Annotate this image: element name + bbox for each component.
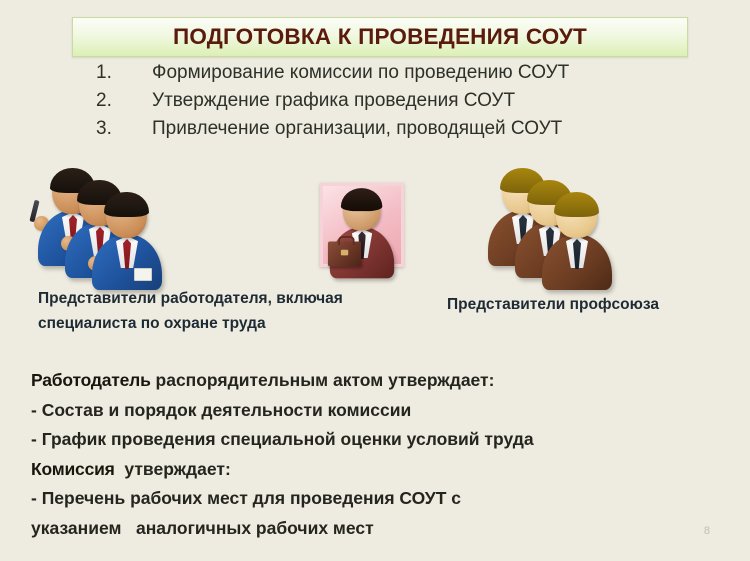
body-line: указанием аналогичных рабочих мест [31, 514, 731, 544]
body-line-rest: указанием аналогичных рабочих мест [31, 518, 374, 538]
briefcase-icon [328, 242, 361, 267]
hair-shape [104, 192, 149, 217]
three-people-brown-suits-icon [486, 168, 626, 280]
person-figure [540, 194, 614, 290]
list-item-index: 3. [96, 118, 152, 140]
body-line-lead: Комиссия [31, 459, 115, 479]
body-line-rest: - Перечень рабочих мест для проведения С… [31, 488, 461, 508]
body-line: Работодатель распорядительным актом утве… [31, 366, 731, 396]
list-item: 2. Утверждение графика проведения СОУТ [96, 90, 696, 118]
presentation-slide: ПОДГОТОВКА К ПРОВЕДЕНИЯ СОУТ 1. Формиров… [0, 0, 750, 561]
id-badge-icon [134, 268, 152, 281]
slide-title-banner: ПОДГОТОВКА К ПРОВЕДЕНИЯ СОУТ [72, 17, 688, 57]
person-figure [90, 194, 164, 290]
list-item-label: Формирование комиссии по проведению СОУТ [152, 62, 569, 84]
numbered-steps-list: 1. Формирование комиссии по проведению С… [96, 62, 696, 146]
body-line-rest: распорядительным актом утверждает: [151, 370, 495, 390]
list-item-index: 2. [96, 90, 152, 112]
body-line: - Перечень рабочих мест для проведения С… [31, 484, 731, 514]
list-item-index: 1. [96, 62, 152, 84]
list-item: 1. Формирование комиссии по проведению С… [96, 62, 696, 90]
body-line: - График проведения специальной оценки у… [31, 425, 731, 455]
body-line-rest: - График проведения специальной оценки у… [31, 429, 534, 449]
caption-employer-representatives: Представители работодателя, включая спец… [38, 286, 348, 336]
body-line-lead: Работодатель [31, 370, 151, 390]
hair-shape [554, 192, 599, 217]
list-item: 3. Привлечение организации, проводящей С… [96, 118, 696, 146]
caption-union-representatives: Представители профсоюза [447, 292, 727, 317]
three-people-blue-suits-icon [36, 168, 176, 280]
body-line-rest: - Состав и порядок деятельности комиссии [31, 400, 411, 420]
body-line-rest: утверждает: [115, 459, 231, 479]
body-line: Комиссия утверждает: [31, 455, 731, 485]
list-item-label: Привлечение организации, проводящей СОУТ [152, 118, 562, 140]
hair-shape [341, 188, 382, 211]
person-figure [328, 190, 396, 278]
businessman-with-briefcase-icon [320, 183, 404, 267]
page-title: ПОДГОТОВКА К ПРОВЕДЕНИЯ СОУТ [173, 24, 587, 50]
list-item-label: Утверждение графика проведения СОУТ [152, 90, 515, 112]
body-text-block: Работодатель распорядительным актом утве… [31, 366, 731, 543]
body-line: - Состав и порядок деятельности комиссии [31, 396, 731, 426]
slide-number: 8 [704, 525, 710, 537]
